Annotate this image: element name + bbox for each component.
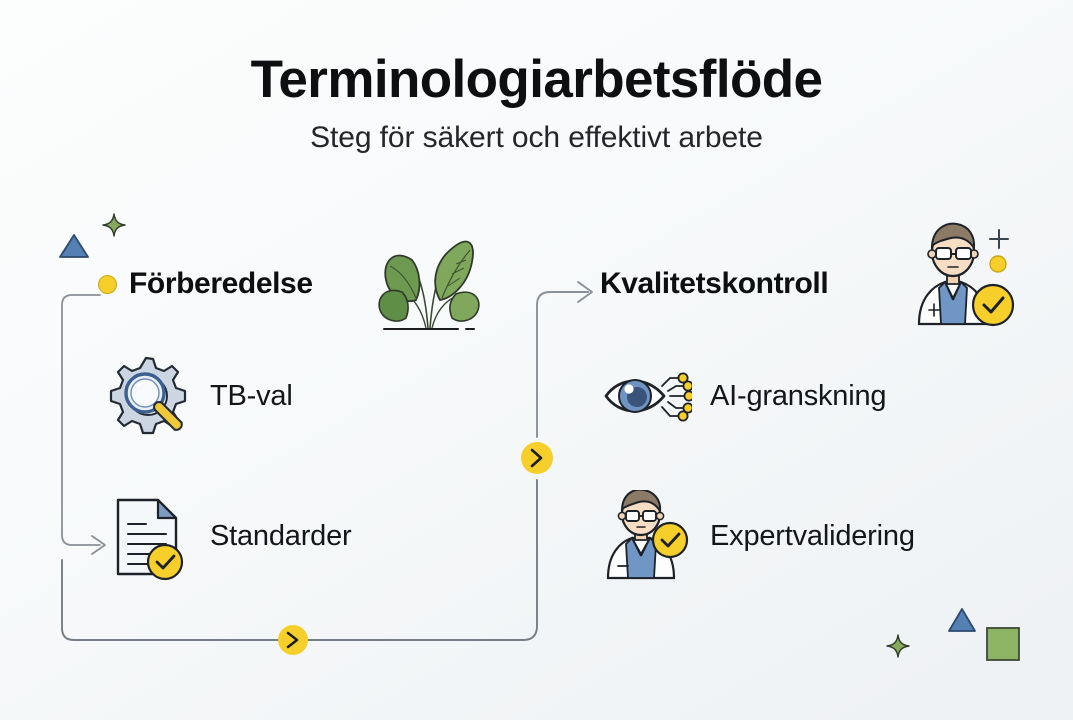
step-label: Standarder <box>210 520 352 553</box>
column-title: Förberedelse <box>129 267 313 301</box>
page-title: Terminologiarbetsflöde <box>0 52 1073 108</box>
document-check-icon <box>100 490 192 582</box>
plus-icon <box>990 230 1008 248</box>
column-header-forberedelse: Förberedelse <box>100 262 520 306</box>
chevron-right-circle-icon <box>521 442 553 474</box>
arrow-right-icon <box>578 282 592 302</box>
step-label: Expertvalidering <box>710 520 915 553</box>
sparkle-icon <box>102 213 126 237</box>
step-standarder[interactable]: Standarder <box>100 490 520 582</box>
sparkle-icon <box>886 634 910 658</box>
infographic-canvas: Terminologiarbetsflöde Steg för säkert o… <box>0 0 1073 720</box>
triangle-icon <box>58 232 90 260</box>
page-subtitle: Steg för säkert och effektivt arbete <box>0 121 1073 155</box>
ai-eye-icon <box>600 350 692 442</box>
chevron-right-circle-icon <box>278 625 308 655</box>
check-badge-icon <box>148 545 182 579</box>
yellow-dot-icon <box>98 275 117 294</box>
step-tb-val[interactable]: TB-val <box>100 350 520 442</box>
step-expertvalidering[interactable]: Expertvalidering <box>600 490 1040 582</box>
check-badge-icon <box>653 523 687 557</box>
square-icon <box>984 625 1022 663</box>
column-header-kvalitetskontroll: Kvalitetskontroll <box>600 262 1040 306</box>
step-ai-granskning[interactable]: AI-granskning <box>600 350 1040 442</box>
step-label: TB-val <box>210 380 293 413</box>
column-kvalitetskontroll: Kvalitetskontroll <box>600 262 1040 582</box>
column-title: Kvalitetskontroll <box>600 267 828 301</box>
triangle-icon <box>947 607 977 634</box>
step-label: AI-granskning <box>710 380 886 413</box>
expert-check-icon <box>600 490 692 582</box>
header: Terminologiarbetsflöde Steg för säkert o… <box>0 52 1073 155</box>
column-forberedelse: Förberedelse <box>100 262 520 582</box>
gear-magnifier-icon <box>100 350 192 442</box>
